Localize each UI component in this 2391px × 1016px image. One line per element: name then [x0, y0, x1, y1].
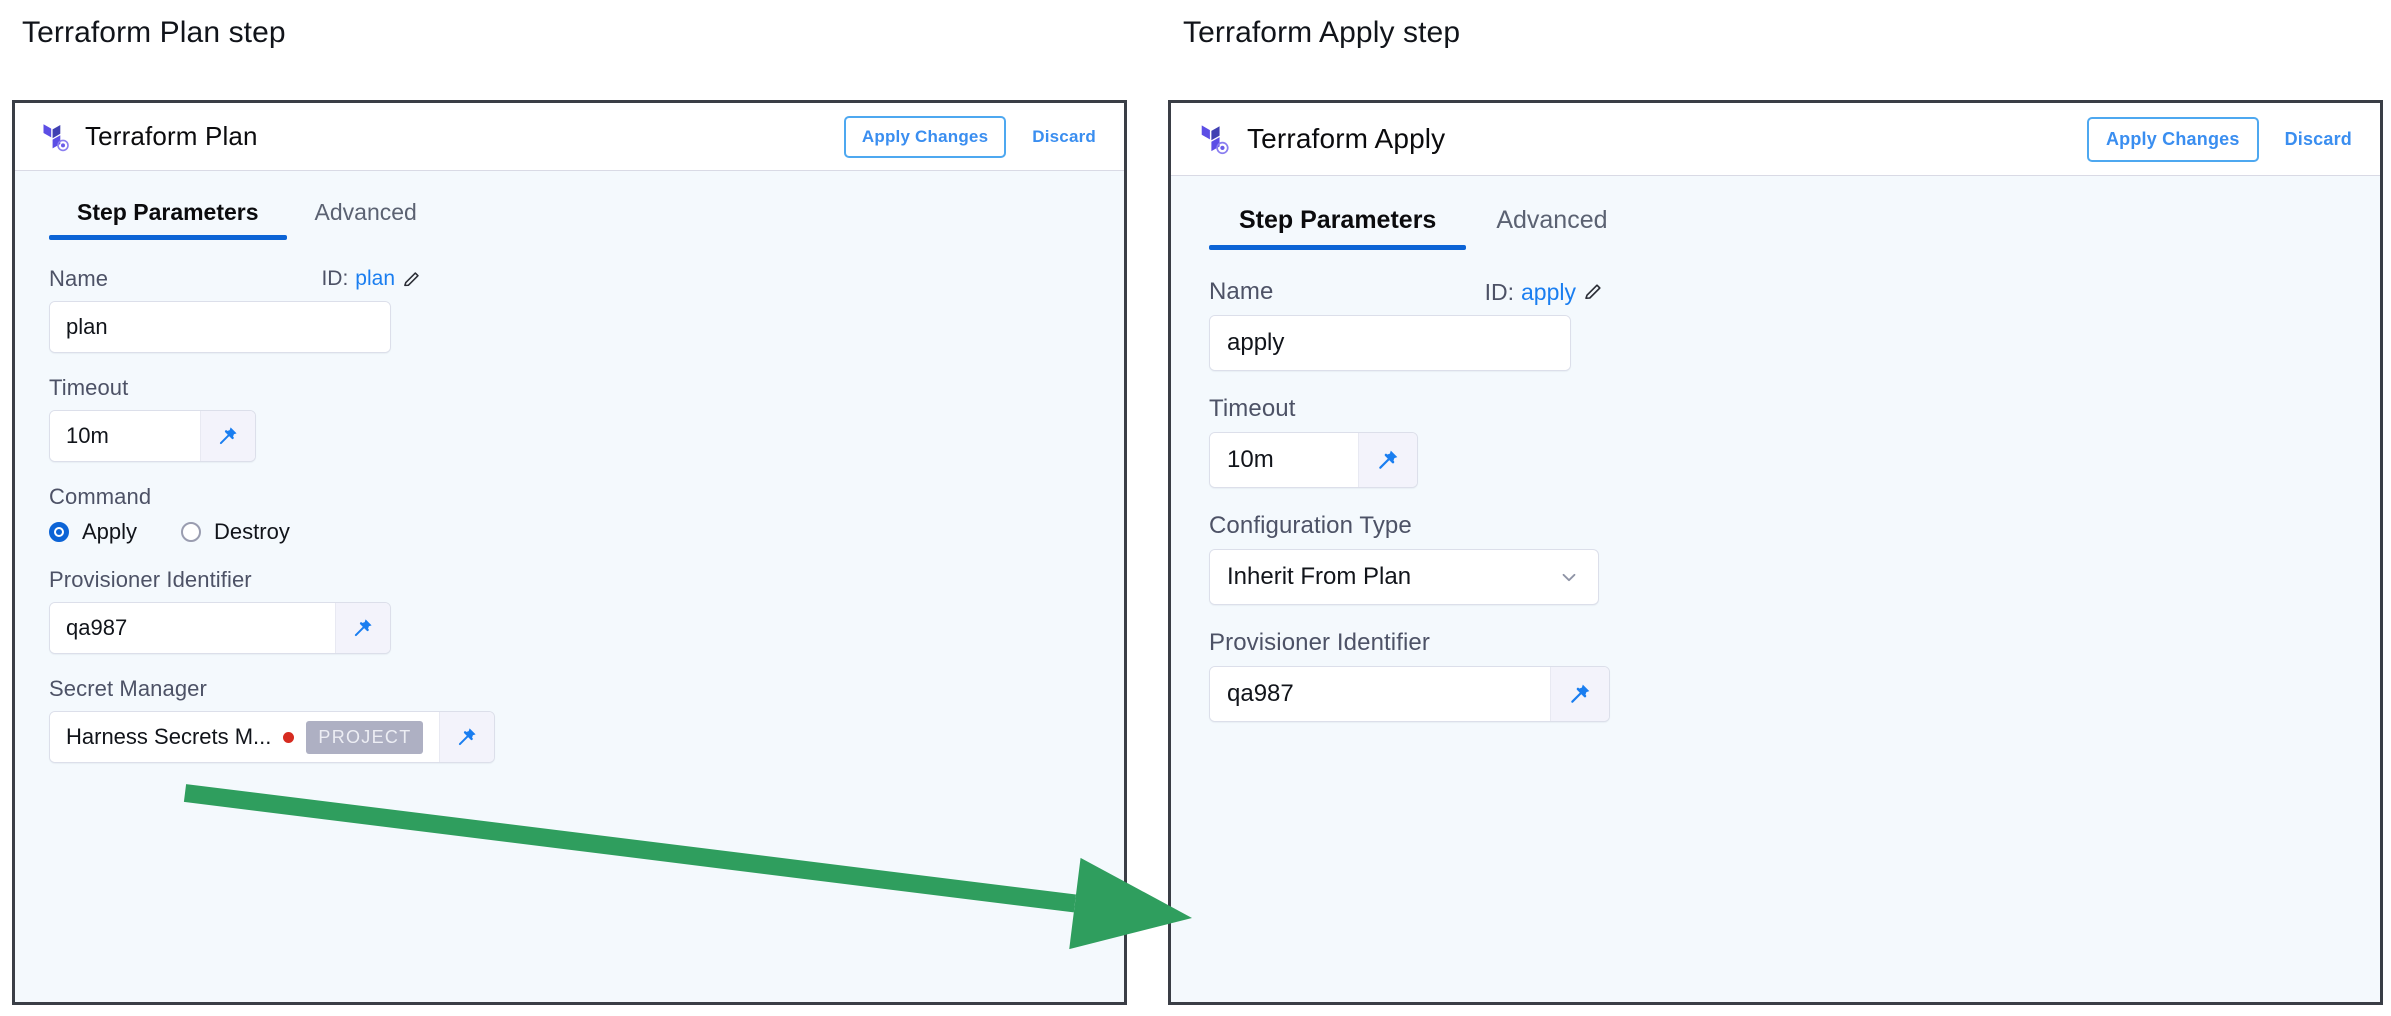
- field-name: Name ID: apply apply: [1209, 278, 2380, 371]
- id-prefix-label: ID:: [321, 267, 348, 291]
- step-id-block: ID: apply: [1485, 279, 1603, 306]
- plan-tab-bar: Step Parameters Advanced: [49, 199, 1124, 240]
- secret-manager-pin-button[interactable]: [439, 712, 494, 762]
- pin-icon: [455, 725, 479, 749]
- name-label-row: Name ID: apply: [1209, 278, 1603, 306]
- timeout-label: Timeout: [1209, 395, 1296, 423]
- red-status-dot: [283, 732, 294, 743]
- radio-label: Destroy: [214, 519, 290, 545]
- radio-unselected-icon: [181, 522, 201, 542]
- timeout-input[interactable]: 10m: [50, 411, 200, 461]
- secret-manager-input-shell[interactable]: Harness Secrets M... PROJECT: [49, 711, 495, 763]
- radio-apply[interactable]: Apply: [49, 519, 137, 545]
- secret-manager-value-group: Harness Secrets M... PROJECT: [66, 721, 423, 754]
- radio-destroy[interactable]: Destroy: [181, 519, 290, 545]
- discard-button[interactable]: Discard: [1028, 127, 1100, 147]
- timeout-pin-button[interactable]: [200, 411, 255, 461]
- tab-label: Advanced: [1496, 206, 1607, 234]
- field-name: Name ID: plan plan: [49, 266, 1124, 353]
- provisioner-label-row: Provisioner Identifier: [49, 567, 1124, 593]
- field-provisioner-identifier: Provisioner Identifier qa987: [49, 567, 1124, 654]
- apply-tab-bar: Step Parameters Advanced: [1209, 206, 2380, 250]
- name-label: Name: [1209, 278, 1273, 306]
- step-id-block: ID: plan: [321, 267, 421, 291]
- tab-advanced[interactable]: Advanced: [1466, 206, 1637, 250]
- plan-step-parameters-form: Name ID: plan plan Timeout 10m: [15, 240, 1124, 763]
- apply-step-title: Terraform Apply: [1247, 123, 1445, 155]
- provisioner-input-shell[interactable]: qa987: [1209, 666, 1610, 722]
- name-input-shell[interactable]: apply: [1209, 315, 1571, 371]
- radio-label: Apply: [82, 519, 137, 545]
- configuration-type-select[interactable]: Inherit From Plan: [1210, 550, 1540, 604]
- timeout-pin-button[interactable]: [1358, 433, 1417, 487]
- tab-label: Step Parameters: [1239, 206, 1436, 234]
- radio-selected-icon: [49, 522, 69, 542]
- configuration-type-dropdown-toggle[interactable]: [1540, 550, 1598, 604]
- configuration-type-select-shell[interactable]: Inherit From Plan: [1209, 549, 1599, 605]
- provisioner-label-row: Provisioner Identifier: [1209, 629, 2380, 657]
- plan-panel-header: Terraform Plan Apply Changes Discard: [15, 103, 1124, 171]
- secret-manager-label-row: Secret Manager: [49, 676, 1124, 702]
- timeout-label-row: Timeout: [49, 375, 1124, 401]
- pin-icon: [1375, 447, 1401, 473]
- apply-changes-button[interactable]: Apply Changes: [844, 116, 1006, 158]
- timeout-input-shell[interactable]: 10m: [1209, 432, 1418, 488]
- command-label: Command: [49, 484, 151, 510]
- tab-step-parameters[interactable]: Step Parameters: [49, 199, 287, 240]
- provisioner-identifier-input[interactable]: qa987: [50, 603, 335, 653]
- pin-icon: [216, 424, 240, 448]
- step-id-value[interactable]: apply: [1521, 279, 1576, 306]
- field-configuration-type: Configuration Type Inherit From Plan: [1209, 512, 2380, 605]
- step-id-value[interactable]: plan: [355, 267, 395, 291]
- apply-step-parameters-form: Name ID: apply apply Timeout 10m: [1171, 250, 2380, 722]
- apply-panel-header: Terraform Apply Apply Changes Discard: [1171, 103, 2380, 176]
- field-timeout: Timeout 10m: [1209, 395, 2380, 488]
- field-secret-manager: Secret Manager Harness Secrets M... PROJ…: [49, 676, 1124, 763]
- field-timeout: Timeout 10m: [49, 375, 1124, 462]
- id-prefix-label: ID:: [1485, 279, 1514, 306]
- configuration-type-label: Configuration Type: [1209, 512, 1412, 540]
- apply-changes-button[interactable]: Apply Changes: [2087, 117, 2259, 162]
- pin-icon: [1567, 681, 1593, 707]
- field-provisioner-identifier: Provisioner Identifier qa987: [1209, 629, 2380, 722]
- provisioner-identifier-label: Provisioner Identifier: [1209, 629, 1430, 657]
- secret-manager-label: Secret Manager: [49, 676, 207, 702]
- configuration-type-label-row: Configuration Type: [1209, 512, 2380, 540]
- pencil-icon[interactable]: [402, 270, 421, 289]
- command-radio-group: Apply Destroy: [49, 519, 1124, 545]
- provisioner-pin-button[interactable]: [1550, 667, 1609, 721]
- apply-header-actions: Apply Changes Discard: [2087, 117, 2356, 162]
- timeout-input-shell[interactable]: 10m: [49, 410, 256, 462]
- plan-panel-caption: Terraform Plan step: [22, 16, 286, 50]
- tab-label: Advanced: [315, 199, 417, 225]
- terraform-plan-step-panel: Terraform Plan Apply Changes Discard Ste…: [12, 100, 1127, 1005]
- terraform-apply-step-panel: Terraform Apply Apply Changes Discard St…: [1168, 100, 2383, 1005]
- terraform-logo-icon: [1199, 122, 1231, 156]
- secret-manager-name: Harness Secrets M...: [66, 724, 271, 750]
- name-input-shell[interactable]: plan: [49, 301, 391, 353]
- apply-panel-caption: Terraform Apply step: [1183, 16, 1460, 50]
- provisioner-identifier-label: Provisioner Identifier: [49, 567, 252, 593]
- name-label-row: Name ID: plan: [49, 266, 421, 292]
- provisioner-identifier-input[interactable]: qa987: [1210, 667, 1550, 721]
- command-label-row: Command: [49, 484, 1124, 510]
- field-command: Command Apply Destroy: [49, 484, 1124, 545]
- scope-badge: PROJECT: [306, 721, 422, 754]
- plan-step-title: Terraform Plan: [85, 121, 258, 152]
- name-input[interactable]: apply: [1210, 316, 1570, 370]
- active-tab-underline: [1209, 245, 1466, 250]
- pin-icon: [351, 616, 375, 640]
- timeout-label: Timeout: [49, 375, 128, 401]
- active-tab-underline: [49, 235, 287, 240]
- secret-manager-input[interactable]: Harness Secrets M... PROJECT: [50, 712, 439, 762]
- pencil-icon[interactable]: [1583, 282, 1603, 302]
- provisioner-input-shell[interactable]: qa987: [49, 602, 391, 654]
- name-label: Name: [49, 266, 108, 292]
- name-input[interactable]: plan: [50, 302, 390, 352]
- tab-step-parameters[interactable]: Step Parameters: [1209, 206, 1466, 250]
- plan-header-actions: Apply Changes Discard: [844, 116, 1100, 158]
- tab-advanced[interactable]: Advanced: [287, 199, 445, 240]
- tab-label: Step Parameters: [77, 199, 259, 225]
- timeout-label-row: Timeout: [1209, 395, 2380, 423]
- provisioner-pin-button[interactable]: [335, 603, 390, 653]
- terraform-logo-icon: [41, 121, 71, 153]
- timeout-input[interactable]: 10m: [1210, 433, 1358, 487]
- discard-button[interactable]: Discard: [2281, 129, 2356, 150]
- chevron-down-icon: [1557, 565, 1581, 589]
